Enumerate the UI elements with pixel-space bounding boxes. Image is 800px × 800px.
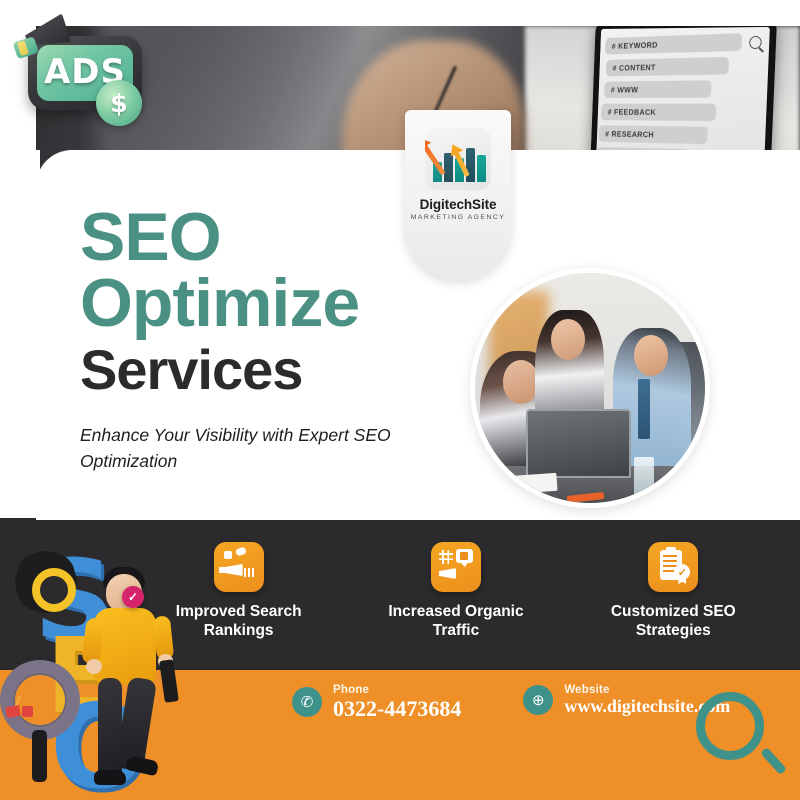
contact-phone[interactable]: ✆ Phone 0322-4473684: [292, 684, 461, 720]
keyword-tag: # WWW: [604, 80, 711, 98]
feature-item: Customized SEO Strategies: [565, 518, 782, 641]
keyword-tag: # FEEDBACK: [601, 104, 716, 122]
keyword-tag: # RESEARCH: [598, 125, 708, 144]
logo-name: DigitechSite: [420, 197, 497, 212]
hashtag-thumbsup-icon: [431, 542, 481, 592]
magnifier-decoration-icon: [696, 692, 782, 778]
keyword-tag: # CONTENT: [606, 57, 730, 76]
ads-badge: ADS $: [16, 22, 144, 122]
phone-value[interactable]: 0322-4473684: [333, 697, 461, 720]
feature-label: Customized SEO Strategies: [598, 603, 748, 641]
team-photo: [470, 268, 710, 508]
hero-subtitle: Enhance Your Visibility with Expert SEO …: [80, 422, 410, 475]
gear-icon: [20, 556, 72, 608]
hero-headline: SEO Optimize Services Enhance Your Visib…: [80, 205, 410, 474]
feature-label: Increased Organic Traffic: [381, 603, 531, 641]
dollar-coin-icon: $: [96, 80, 142, 126]
seo-character-illustration: S E O ✓: [0, 532, 184, 800]
card-corner-notch: [0, 150, 40, 190]
seo-services-poster: # KEYWORD # CONTENT # WWW # FEEDBACK # R…: [0, 0, 800, 800]
headline-line-2: Optimize: [80, 271, 410, 337]
megaphone-chart-icon: [214, 542, 264, 592]
keyword-tag: # KEYWORD: [605, 33, 742, 54]
headline-line-3: Services: [80, 341, 410, 400]
phone-icon: ✆: [292, 687, 322, 717]
feature-item: Increased Organic Traffic: [347, 518, 564, 641]
globe-icon: ⊕: [523, 685, 553, 715]
search-icon: [749, 36, 762, 49]
feature-label: Improved Search Rankings: [164, 603, 314, 641]
magnifier-icon: [0, 660, 86, 780]
logo-tagline: MARKETING AGENCY: [411, 214, 506, 221]
check-badge-icon: ✓: [122, 586, 144, 608]
dollar-symbol: $: [110, 89, 127, 118]
brand-logo: DigitechSite MARKETING AGENCY: [405, 110, 511, 280]
clipboard-check-icon: [648, 542, 698, 592]
bar-chart-arrow-icon: [425, 128, 491, 190]
headline-line-1: SEO: [80, 205, 410, 271]
contact-list: ✆ Phone 0322-4473684 ⊕ Website www.digit…: [292, 684, 730, 720]
features-list: Improved Search Rankings Increased Organ…: [130, 518, 782, 670]
phone-label: Phone: [333, 684, 461, 696]
